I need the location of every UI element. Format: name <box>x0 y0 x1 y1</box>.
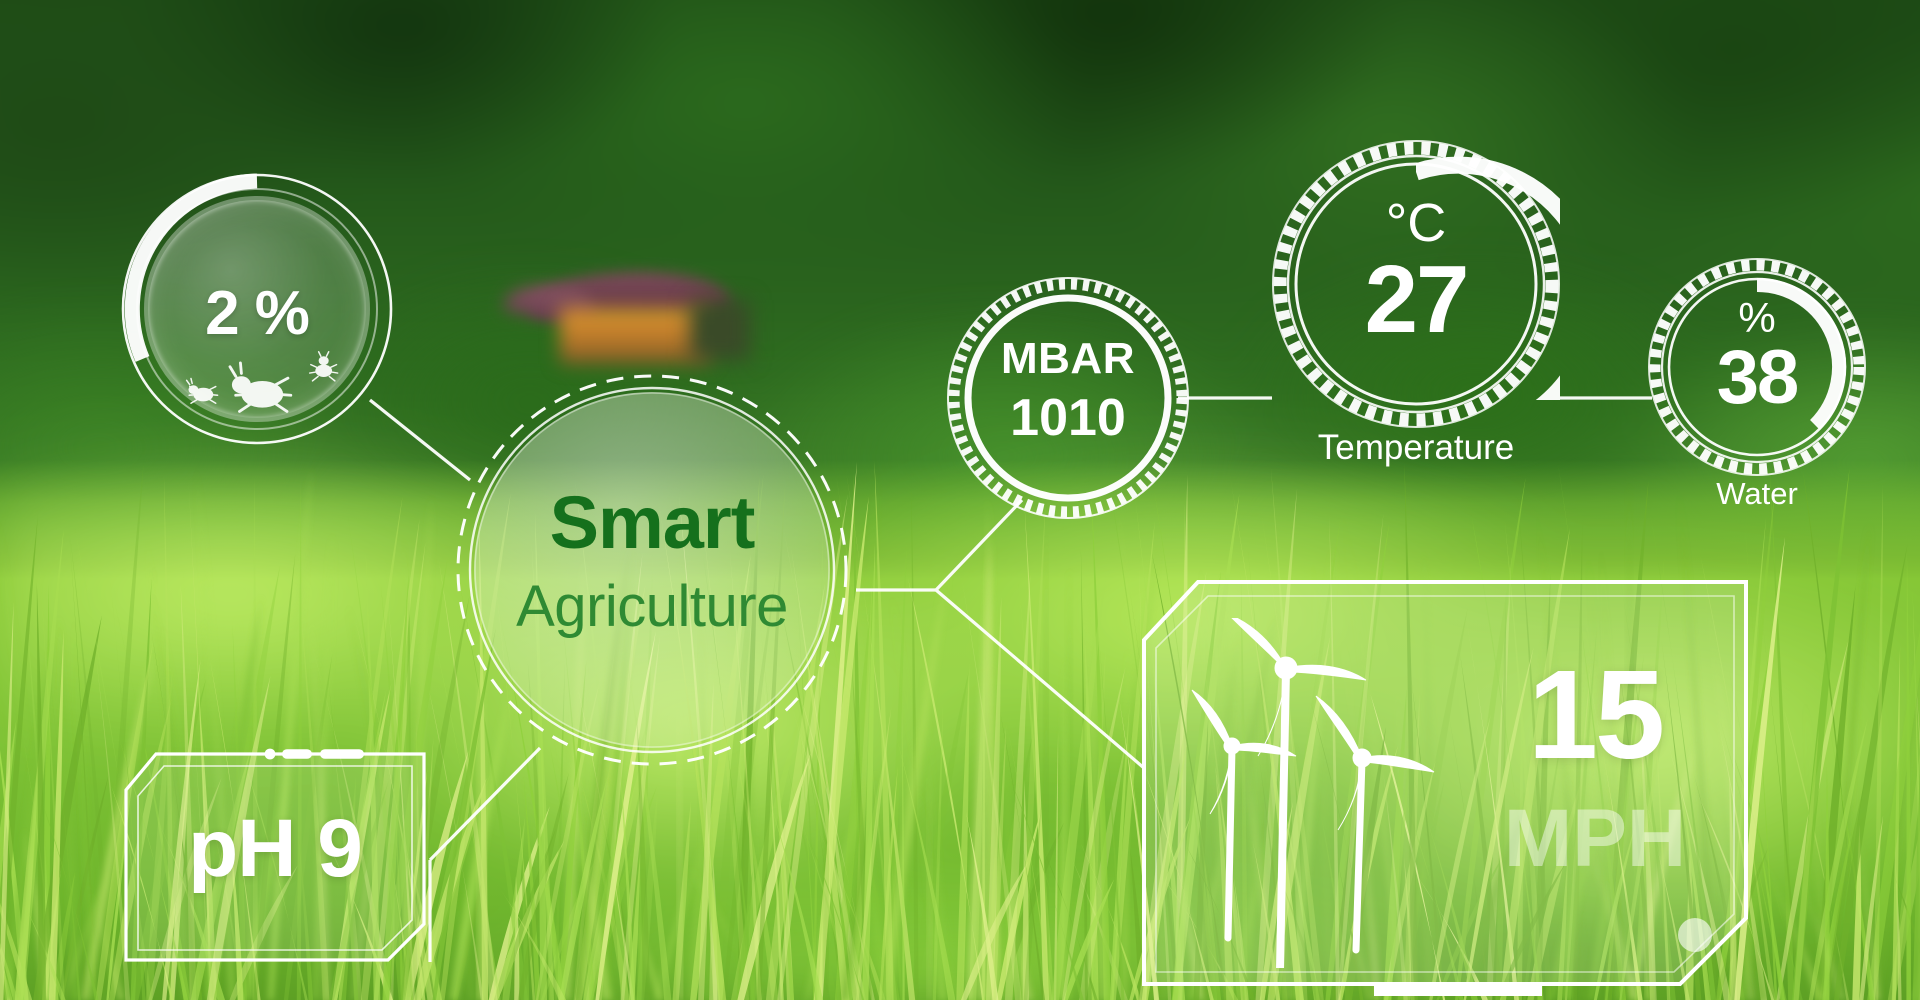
smart-title: Smart <box>452 486 852 560</box>
pressure-value: 1010 <box>948 388 1188 448</box>
water-label: Water <box>1628 476 1886 512</box>
water-value: 38 <box>1648 340 1866 416</box>
wind-speed-widget[interactable]: 15 MPH <box>1140 578 1750 990</box>
link-junction-to-wind <box>936 590 1144 768</box>
smart-subtitle: Agriculture <box>452 578 852 636</box>
wind-corner-dot <box>1678 918 1712 952</box>
smart-agriculture-badge[interactable]: Smart Agriculture <box>452 370 852 770</box>
pressure-unit: MBAR <box>948 334 1188 384</box>
pressure-widget[interactable]: MBAR 1010 <box>948 278 1188 518</box>
temperature-widget[interactable]: °C 27 Temperature <box>1272 140 1560 428</box>
smart-glass-disc <box>474 392 830 748</box>
insect-icon <box>178 348 368 428</box>
wind-unit: MPH <box>1470 798 1720 880</box>
pest-value: 2 % <box>118 278 396 349</box>
hud-overlay: 2 % <box>0 0 1920 1000</box>
soil-ph-widget[interactable]: pH 9 <box>120 748 430 966</box>
ph-value: pH 9 <box>120 802 430 896</box>
temperature-value: 27 <box>1272 252 1560 348</box>
wind-turbine-icon <box>1166 618 1466 968</box>
wind-bottom-bar <box>1374 982 1542 996</box>
temperature-label: Temperature <box>1254 428 1578 468</box>
wind-value: 15 <box>1470 652 1720 778</box>
pest-level-widget[interactable]: 2 % <box>118 170 396 448</box>
water-widget[interactable]: % 38 Water <box>1648 258 1866 476</box>
temperature-unit: °C <box>1272 192 1560 254</box>
